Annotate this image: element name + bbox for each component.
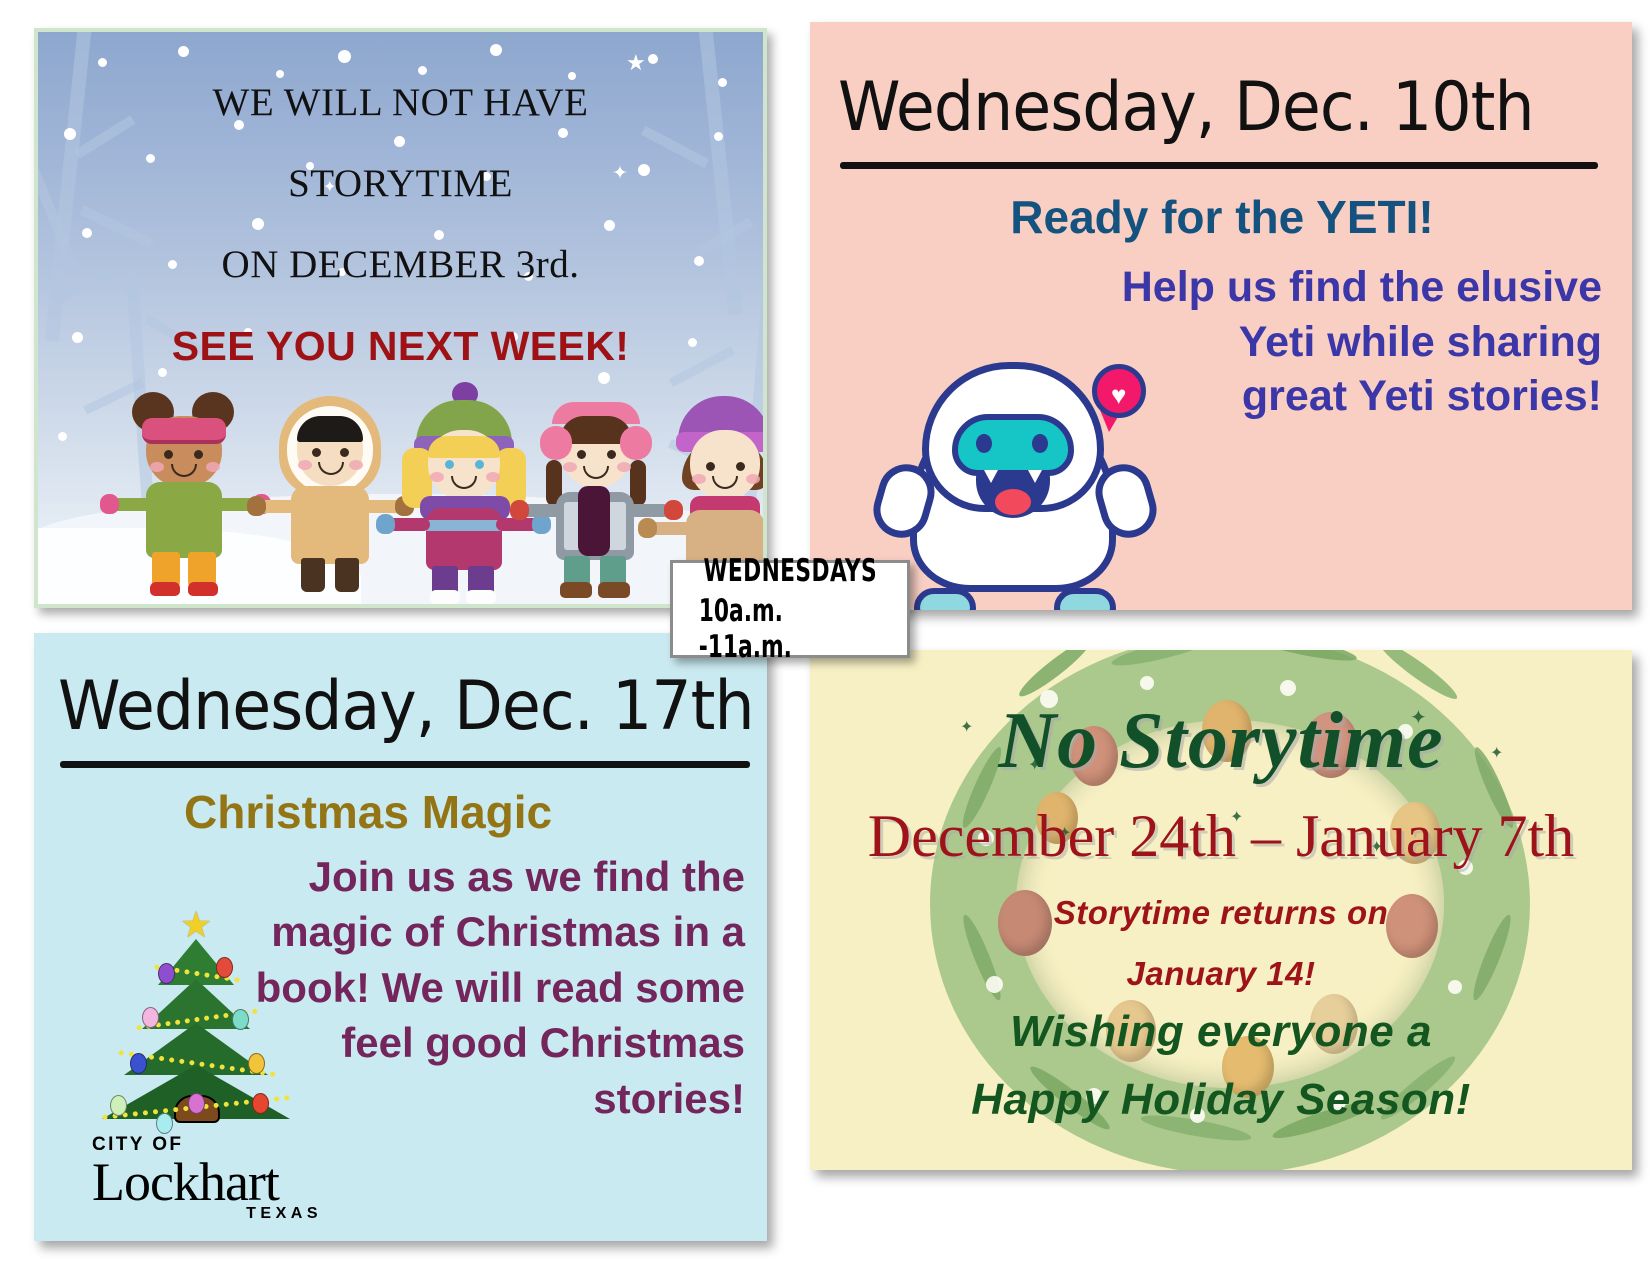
child-eye [445,460,454,469]
yeti-description-line-3: great Yeti stories! [1082,369,1602,424]
child-boot [560,582,592,598]
panel-christmas-magic-dec17: Wednesday, Dec. 17th Christmas Magic Joi… [34,633,767,1241]
child-figure-2 [271,386,391,576]
tree-ornament [158,963,175,984]
no-storytime-line-1: WE WILL NOT HAVE [38,80,763,125]
tree-ornament [188,1093,205,1114]
child-eye [475,460,484,469]
flyer-collage: ✦ ★ ✦ WE WILL NOT HAVE STORYTIME ON DECE… [0,0,1650,1275]
child-eye [577,450,586,459]
snowflake [98,58,107,67]
schedule-time: 10a.m. -11a.m. [699,593,882,665]
tree-ornament [232,1009,249,1030]
yeti-eye [1032,434,1048,453]
heart-icon: ♥ [1111,382,1126,408]
no-storytime-message: WE WILL NOT HAVE STORYTIME ON DECEMBER 3… [38,80,763,370]
child-mitten [100,494,119,514]
wreath-snow [1140,676,1154,690]
snow-star: ★ [626,52,646,74]
tree-ornament [252,1093,269,1114]
panel-no-storytime-holiday-break: ✦ ✦ ✦ ✦ ✦ ✦ ✦ No Storytime December 24th… [810,650,1632,1170]
snowflake [178,46,189,57]
magic-description-line-3: book! We will read some [245,960,745,1015]
child-eye [164,450,173,459]
magic-description-line-5: stories! [245,1071,745,1126]
child-cheek [617,462,631,472]
panel-no-storytime-dec3: ✦ ★ ✦ WE WILL NOT HAVE STORYTIME ON DECE… [34,28,767,608]
tree-ornament [130,1053,147,1074]
child-mitten [247,496,266,516]
lockhart-city-logo: CITY OF Lockhart TEXAS [92,1134,322,1223]
storytime-return-line-1: Storytime returns on [810,882,1632,943]
child-figure-3 [404,386,524,576]
storytime-return-note: Storytime returns on January 14! [810,882,1632,1004]
child-boot [466,590,496,604]
child-figure-4 [536,386,656,576]
child-cheek [563,462,577,472]
child-cheek [150,462,164,472]
tree-ornament [156,1113,173,1134]
yeti-panel-date: Wednesday, Dec. 10th [838,68,1563,147]
yeti-description-line-1: Help us find the elusive [1082,260,1602,315]
child-mitten [510,500,529,520]
snowflake [418,66,427,75]
earmuff [620,426,652,460]
tree-ornament [142,1007,159,1028]
wreath-snow [1280,680,1296,696]
snowflake [276,70,284,78]
holiday-wish-line-1: Wishing everyone a [810,998,1632,1066]
child-eye [607,450,616,459]
yeti-fang [984,470,998,483]
child-figure-1 [126,386,246,576]
child-eye [312,448,321,457]
yeti-description-line-2: Yeti while sharing [1082,315,1602,370]
see-you-next-week-text: SEE YOU NEXT WEEK! [38,323,763,370]
child-cheek [430,472,444,482]
coat-stripe [426,520,502,531]
scarf [578,486,610,556]
hair-bangs [297,416,363,442]
yeti-date-underline [840,162,1598,169]
child-coat [146,482,222,558]
schedule-days: WEDNESDAYS [703,553,877,589]
winter-children-illustration [116,376,736,576]
yeti-headline: Ready for the YETI! [852,190,1592,244]
child-head [690,430,760,500]
hair-bangs [428,436,500,458]
child-cheek [486,472,500,482]
magic-panel-date: Wednesday, Dec. 17th [58,667,708,746]
magic-description-line-4: feel good Christmas [245,1015,745,1070]
child-mitten [638,518,657,538]
tree-ornament [216,957,233,978]
child-coat [291,486,369,564]
storytime-return-line-2: January 14! [810,943,1632,1004]
child-eye [194,450,203,459]
magic-description: Join us as we find the magic of Christma… [245,849,745,1126]
knit-headband [142,418,226,444]
child-eye [706,462,715,471]
child-cheek [206,462,220,472]
holiday-wish-line-2: Happy Holiday Season! [810,1066,1632,1134]
child-eye [736,462,745,471]
yeti-description: Help us find the elusive Yeti while shar… [1082,260,1602,424]
holiday-wish-message: Wishing everyone a Happy Holiday Season! [810,998,1632,1134]
magic-headline: Christmas Magic [184,785,552,839]
magic-description-line-1: Join us as we find the [245,849,745,904]
panel-yeti-dec10: Wednesday, Dec. 10th Ready for the YETI!… [810,22,1632,610]
earmuff [540,426,572,460]
child-cheek [298,460,312,470]
tree-ornament [110,1095,127,1116]
yeti-face-mask [952,414,1074,476]
child-boot [430,590,460,604]
holiday-break-title: No Storytime [810,696,1632,787]
heart-speech-bubble-icon: ♥ [1092,364,1146,418]
magic-description-line-2: magic of Christmas in a [245,904,745,959]
logo-lockhart-text: Lockhart [92,1156,322,1209]
yeti-character-icon: ♥ [880,352,1150,610]
child-eye [340,448,349,457]
child-boot [335,558,359,592]
magic-date-underline [60,761,750,768]
child-boot [150,582,180,596]
yeti-tongue [995,489,1031,515]
child-boot [598,582,630,598]
holiday-break-dates: December 24th – January 7th [810,802,1632,871]
snowflake [568,72,576,80]
child-mitten [376,514,395,534]
child-boot [301,558,325,592]
no-storytime-line-3: ON DECEMBER 3rd. [38,242,763,287]
yeti-fang [1028,470,1042,483]
child-cheek [692,474,706,484]
child-coat [426,508,502,570]
snowflake [490,44,502,56]
child-cheek [746,474,760,484]
tree-ornament [248,1053,265,1074]
no-storytime-line-2: STORYTIME [38,161,763,206]
child-arm [758,522,767,535]
tree-star-icon: ★ [180,907,212,943]
snowflake [648,54,658,64]
child-figure-5 [664,386,767,576]
christmas-tree-icon: ★ [96,913,296,1123]
schedule-label: WEDNESDAYS 10a.m. -11a.m. [670,560,910,658]
snowflake [58,432,67,441]
child-boot [188,582,218,596]
child-cheek [349,460,363,470]
yeti-eye [976,434,992,453]
snowflake [338,50,351,63]
